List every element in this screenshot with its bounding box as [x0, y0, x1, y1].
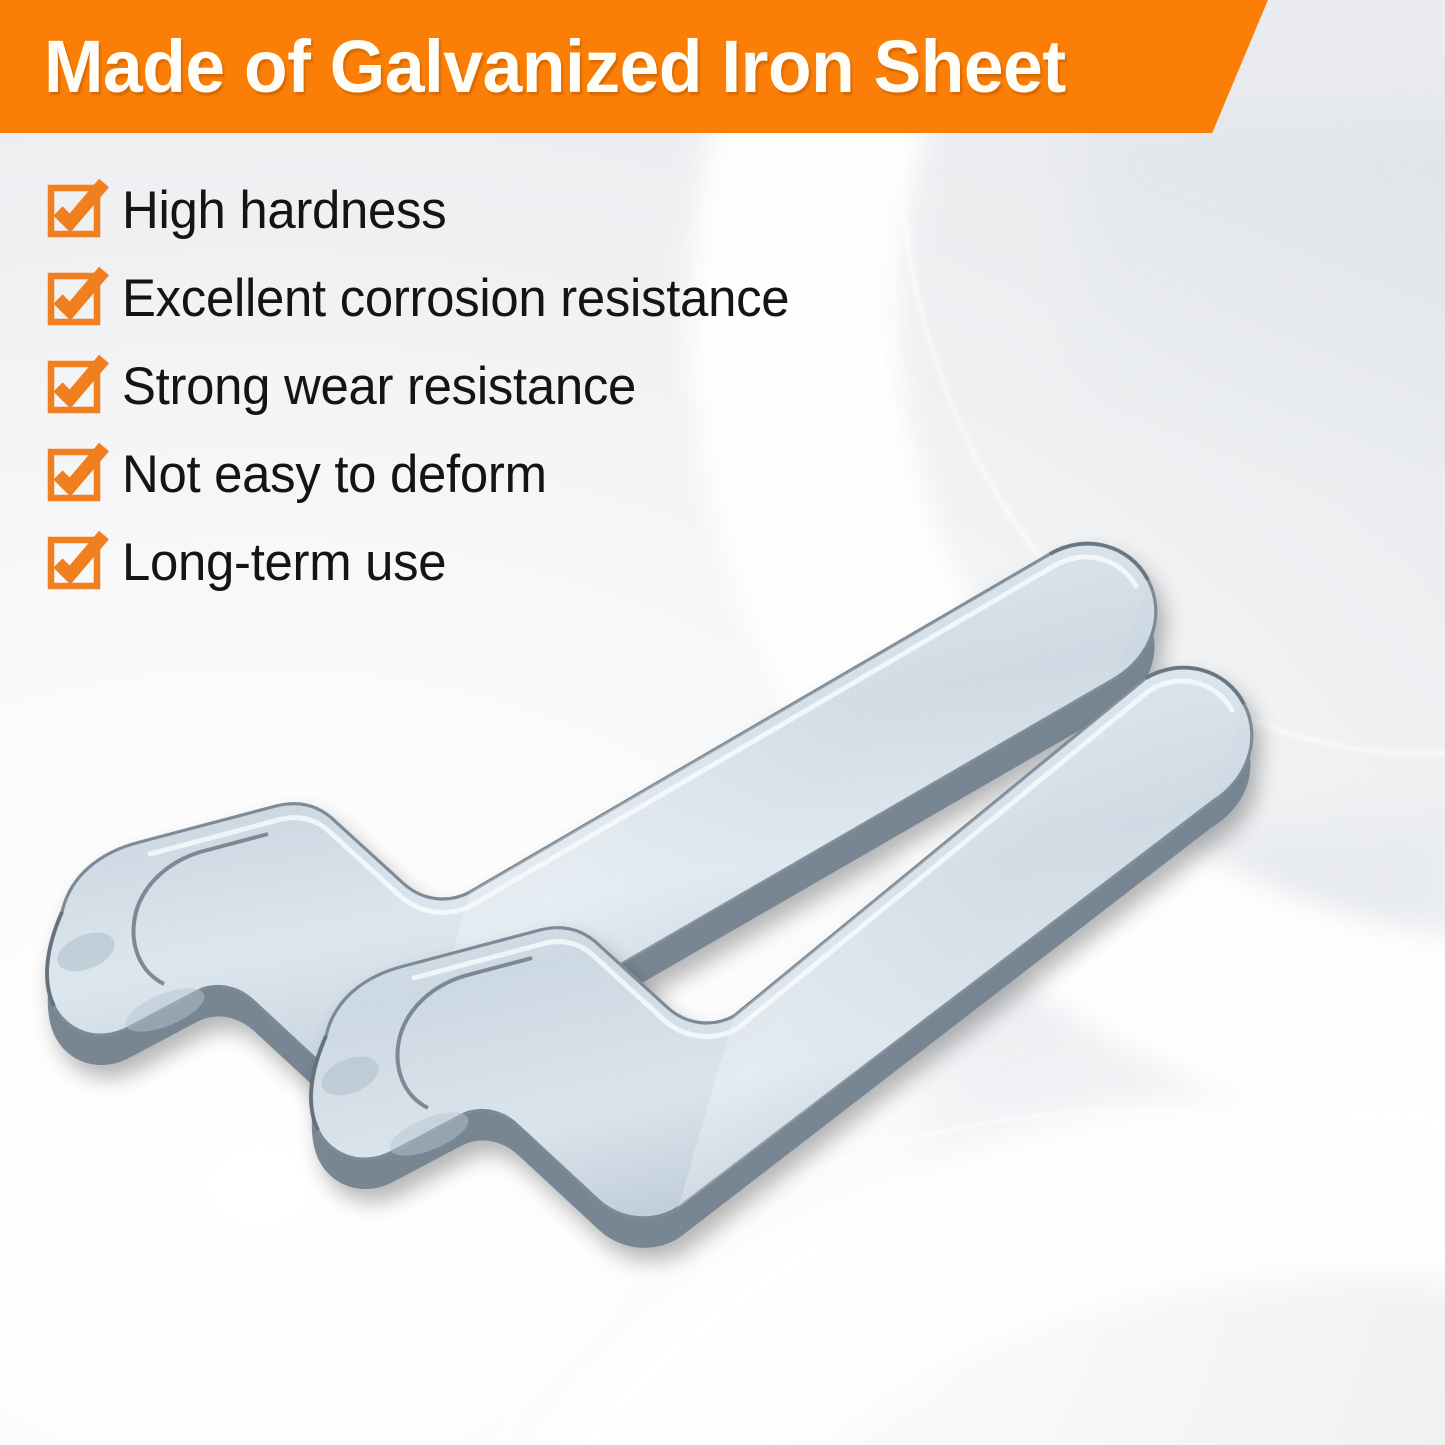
product-photo — [0, 0, 1445, 1445]
product-feature-image: Made of Galvanized Iron Sheet High hardn… — [0, 0, 1445, 1445]
